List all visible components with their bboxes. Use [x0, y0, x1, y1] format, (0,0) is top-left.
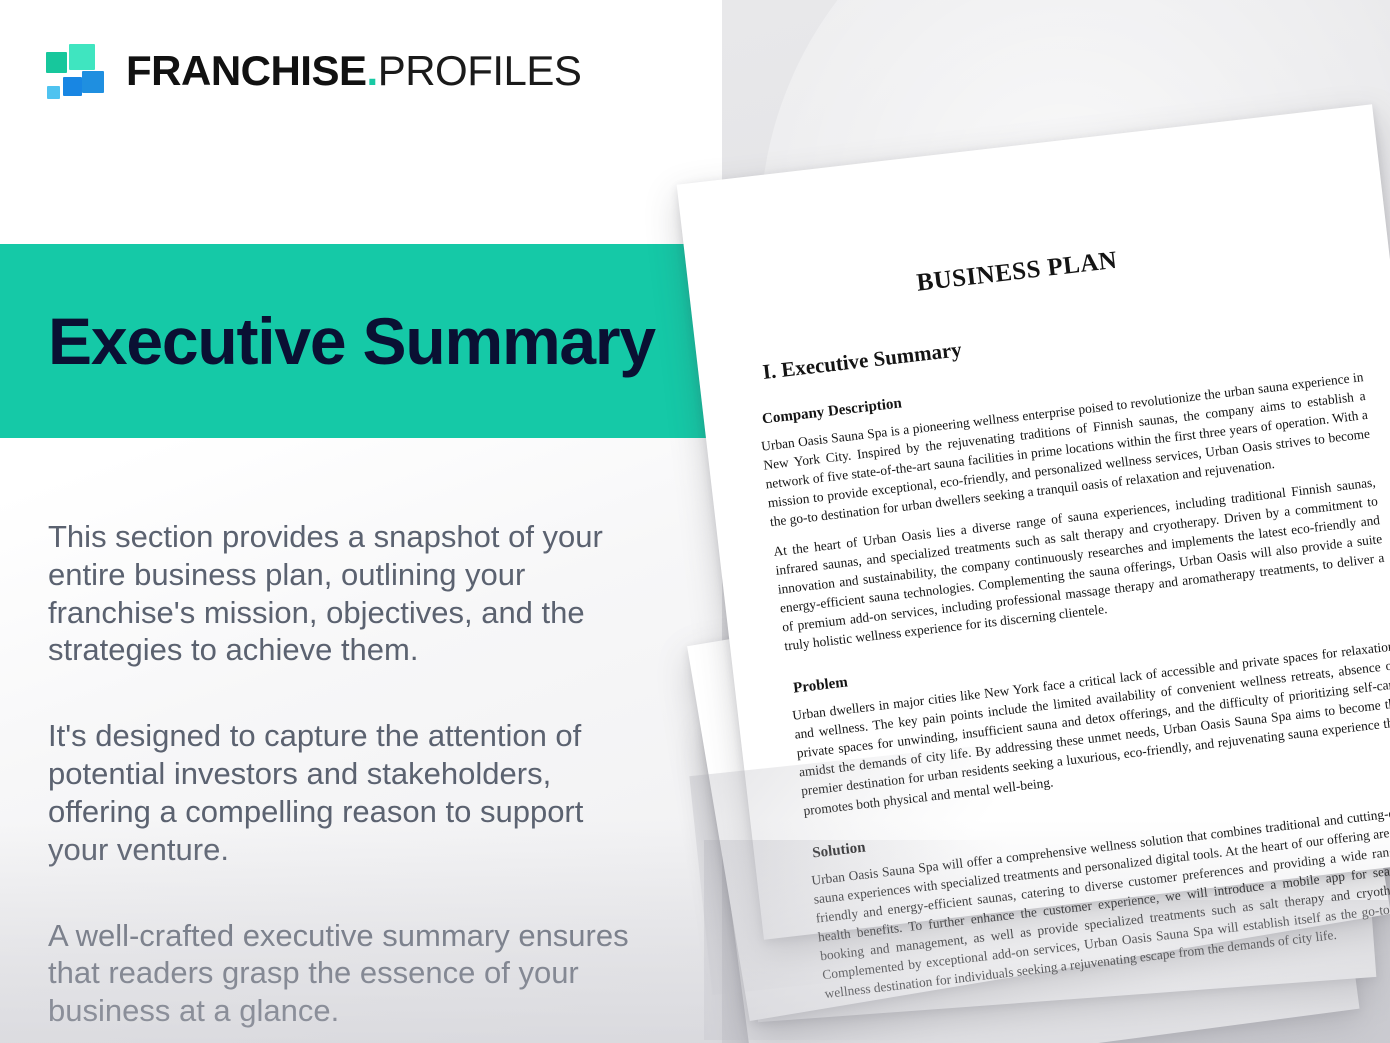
logo-wordmark: FRANCHISE.PROFILES — [126, 50, 581, 92]
logo-word-franchise: FRANCHISE — [126, 47, 367, 94]
logo-dot: . — [367, 47, 378, 94]
page-title: Executive Summary — [0, 308, 655, 374]
document-page-front: BUSINESS PLAN I. Executive Summary Compa… — [677, 104, 1390, 939]
logo-squares-icon — [46, 44, 106, 98]
logo-square-3 — [82, 71, 104, 93]
slide-root: FRANCHISE.PROFILES Executive Summary Thi… — [0, 0, 1390, 1043]
document-content: BUSINESS PLAN I. Executive Summary Compa… — [677, 104, 1390, 939]
headline-banner: Executive Summary — [0, 244, 748, 438]
logo-square-4 — [63, 77, 82, 96]
logo-square-5 — [47, 86, 60, 99]
background-bottom-shade — [0, 820, 1390, 1043]
logo-word-profiles: PROFILES — [378, 47, 582, 94]
brand-logo[interactable]: FRANCHISE.PROFILES — [46, 44, 581, 98]
body-paragraph-1: This section provides a snapshot of your… — [48, 518, 648, 669]
logo-square-1 — [69, 44, 95, 70]
logo-square-2 — [46, 52, 67, 73]
